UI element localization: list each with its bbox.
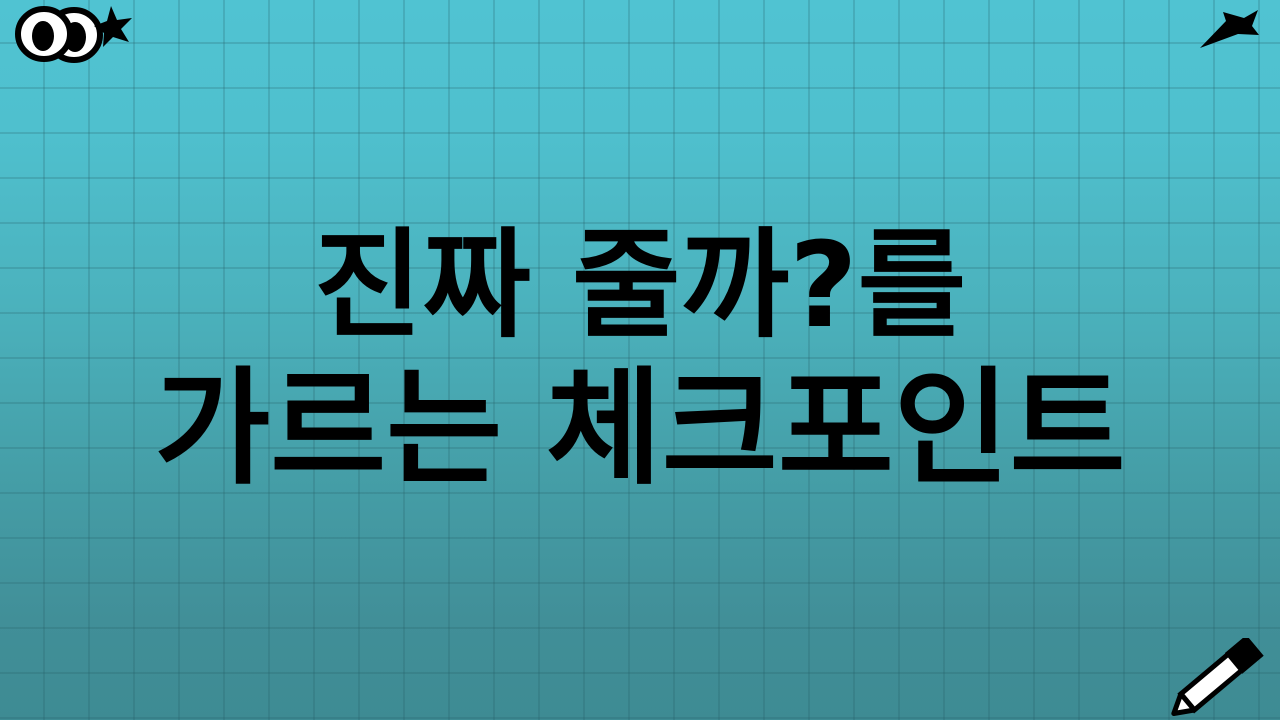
headline-line-2: 가르는 체크포인트 <box>154 352 1125 506</box>
slide-canvas: 진짜 줄까?를 가르는 체크포인트 <box>0 0 1280 720</box>
headline-line-1: 진짜 줄까?를 <box>314 214 966 358</box>
headline-block: 진짜 줄까?를 가르는 체크포인트 <box>0 0 1280 720</box>
